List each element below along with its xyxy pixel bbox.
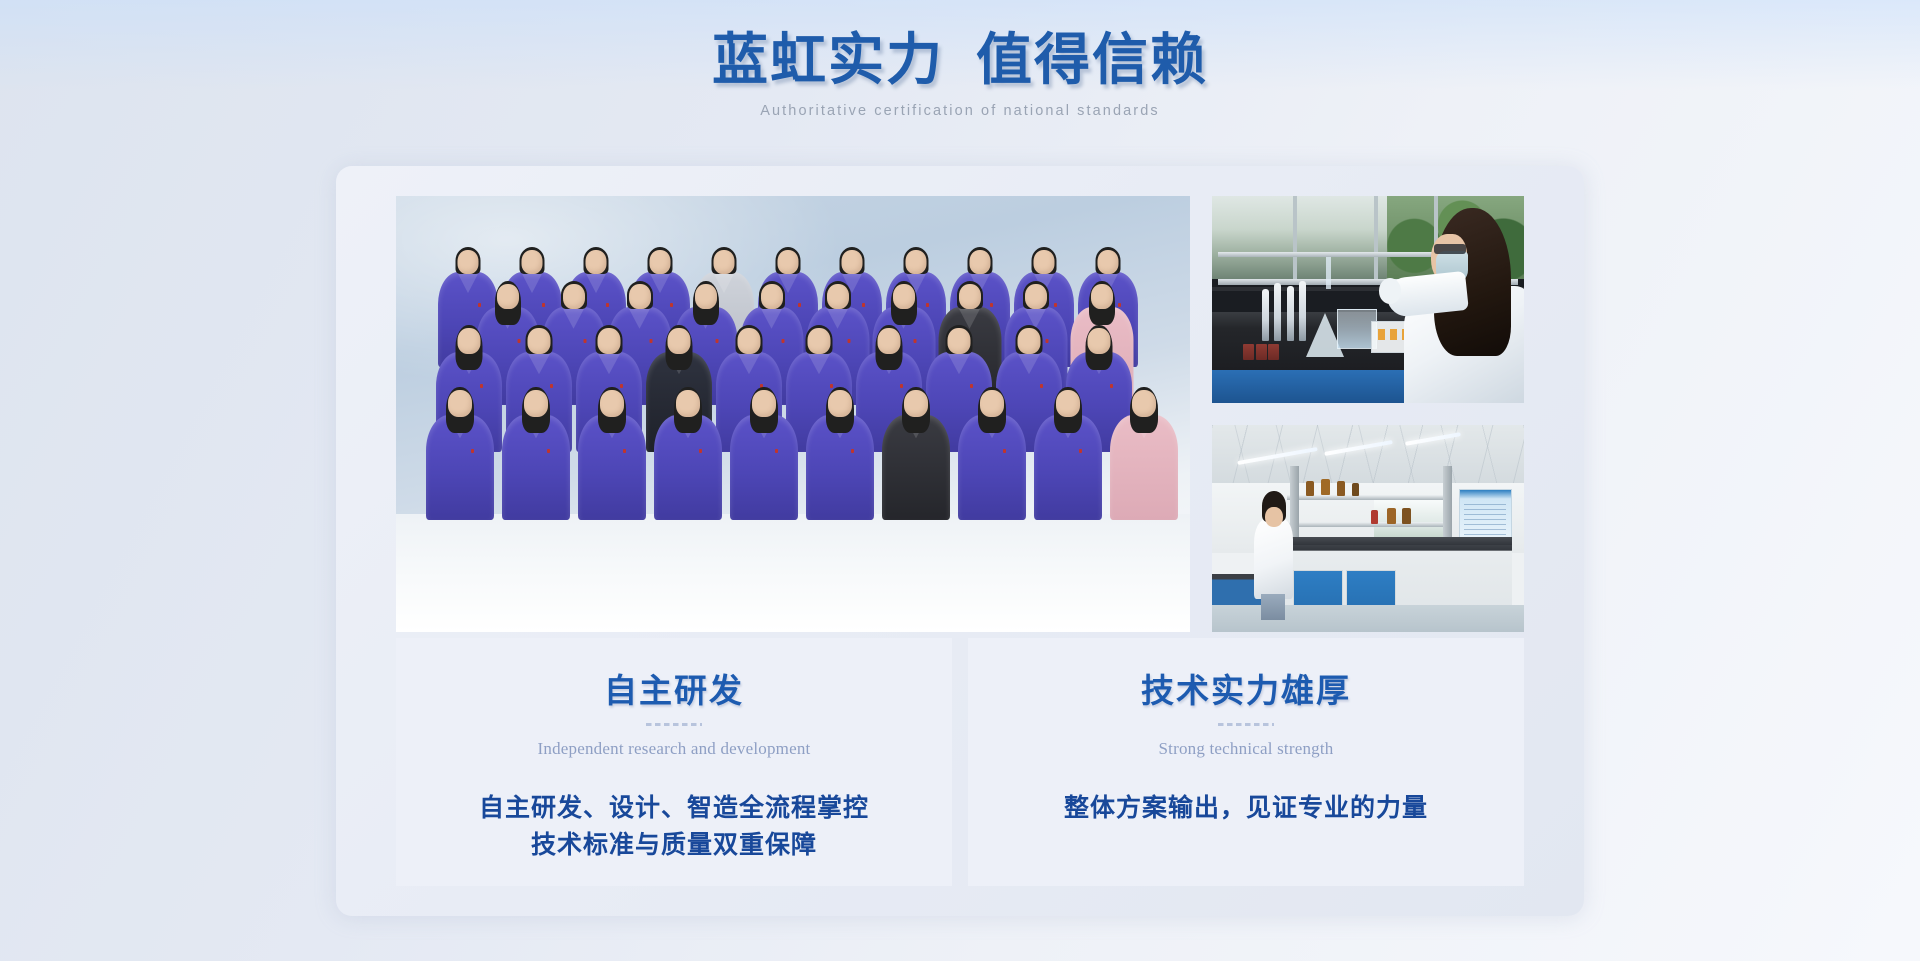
staff-member — [654, 387, 722, 526]
uniform-badge — [851, 449, 854, 453]
uniform-badge — [1003, 449, 1006, 453]
uniform-badge — [471, 449, 474, 453]
staff-member — [426, 387, 494, 526]
uniform-collar — [597, 352, 621, 374]
card-body: 自主研发、设计、智造全流程掌控 技术标准与质量双重保障 — [426, 790, 922, 864]
feature-card-technical-strength[interactable]: 技术实力雄厚 Strong technical strength 整体方案输出，… — [968, 638, 1524, 886]
ceiling — [1212, 425, 1524, 487]
card-body: 整体方案输出，见证专业的力量 — [998, 790, 1494, 827]
page-header: 蓝虹实力 值得信赖 Authoritative certification of… — [0, 0, 1920, 119]
staff-member — [806, 387, 874, 526]
staff-face — [458, 328, 481, 354]
staff-face — [1132, 390, 1156, 417]
pipette-icon — [1262, 289, 1269, 341]
staff-face — [497, 284, 519, 309]
staff-face — [1098, 250, 1119, 274]
staff-face — [1088, 328, 1111, 354]
staff-face — [1034, 250, 1055, 274]
staff-face — [959, 284, 981, 309]
feature-card-independent-rd[interactable]: 自主研发 Independent research and developmen… — [396, 638, 952, 886]
pipette-icon — [1274, 283, 1281, 341]
staff-face — [778, 250, 799, 274]
laboratory-room-photo[interactable] — [1212, 425, 1524, 632]
card-title: 技术实力雄厚 — [998, 664, 1494, 712]
reagent-bottle — [1306, 481, 1314, 496]
staff-face — [1265, 507, 1283, 528]
staff-face — [738, 328, 761, 354]
card-title: 自主研发 — [426, 664, 922, 712]
staff-face — [524, 390, 548, 417]
reagent-vial — [1243, 344, 1254, 360]
uniform-badge — [547, 449, 550, 453]
pipette-icon — [1287, 286, 1294, 341]
staff-face — [1018, 328, 1041, 354]
lab-coat — [1254, 519, 1293, 599]
staff-member — [502, 387, 570, 526]
glove-icon — [1379, 278, 1401, 303]
reagent-vial — [1268, 344, 1279, 360]
window-mullion — [1293, 196, 1297, 279]
staff-face — [761, 284, 783, 309]
window-mullion — [1374, 196, 1378, 279]
staff-jeans — [1261, 594, 1285, 620]
staff-face — [752, 390, 776, 417]
staff-member — [958, 387, 1026, 526]
card-divider — [646, 723, 702, 726]
reagent-bottle — [1402, 508, 1411, 524]
page-title: 蓝虹实力 值得信赖 — [0, 31, 1920, 91]
uniform-badge — [623, 449, 626, 453]
staff-face — [676, 390, 700, 417]
staff-member — [1034, 387, 1102, 526]
card-subtitle: Strong technical strength — [998, 739, 1494, 759]
staff-member — [882, 387, 950, 526]
staff-face — [458, 250, 479, 274]
sample-tube — [1378, 329, 1385, 340]
reagent-shelf — [1287, 495, 1449, 500]
staff-face — [1025, 284, 1047, 309]
staff-crowd — [396, 257, 1190, 562]
laboratory-room-canvas — [1212, 425, 1524, 632]
staff-face — [893, 284, 915, 309]
group-photo-canvas — [396, 196, 1190, 632]
uniform-collar — [807, 352, 831, 374]
card-subtitle: Independent research and development — [426, 739, 922, 759]
staff-face — [1056, 390, 1080, 417]
staff-member — [578, 387, 646, 526]
flask-neck — [1326, 257, 1331, 289]
staff-face — [629, 284, 651, 309]
staff-face — [827, 284, 849, 309]
reagent-shelf — [1287, 522, 1449, 527]
uniform-collar — [527, 352, 551, 374]
staff-face — [1091, 284, 1113, 309]
uniform-collar — [737, 352, 761, 374]
staff-face — [600, 390, 624, 417]
staff-face — [948, 328, 971, 354]
safety-glasses-icon — [1434, 244, 1466, 254]
reagent-bottle — [1321, 479, 1330, 495]
staff-face — [528, 328, 551, 354]
card-divider — [1218, 723, 1274, 726]
media-grid — [396, 196, 1524, 632]
uniform-badge — [1079, 449, 1082, 453]
staff-face — [695, 284, 717, 309]
technician-figure — [1393, 208, 1524, 403]
staff-face — [714, 250, 735, 274]
team-group-photo[interactable] — [396, 196, 1190, 632]
reagent-bottle — [1371, 510, 1378, 524]
content-panel: 自主研发 Independent research and developmen… — [336, 166, 1584, 916]
staff-face — [980, 390, 1004, 417]
uniform-collar — [947, 352, 971, 374]
staff-face — [563, 284, 585, 309]
uniform-badge — [775, 449, 778, 453]
staff-face — [598, 328, 621, 354]
safety-poster — [1459, 489, 1512, 543]
page-subtitle: Authoritative certification of national … — [0, 103, 1920, 119]
lab-technician-canvas — [1212, 196, 1524, 403]
reagent-bottle — [1352, 483, 1359, 496]
staff-face — [808, 328, 831, 354]
uniform-badge — [699, 449, 702, 453]
staff-face — [522, 250, 543, 274]
staff-member — [730, 387, 798, 526]
uniform-collar — [1017, 352, 1041, 374]
staff-face — [828, 390, 852, 417]
reagent-vial — [1256, 344, 1267, 360]
staff-face — [904, 390, 928, 417]
staff-face — [878, 328, 901, 354]
staff-face — [586, 250, 607, 274]
uniform-badge — [782, 339, 785, 343]
side-photo-column — [1212, 196, 1524, 632]
feature-cards: 自主研发 Independent research and developmen… — [396, 638, 1524, 886]
staff-face — [650, 250, 671, 274]
staff-face — [970, 250, 991, 274]
reagent-bottle — [1337, 481, 1345, 496]
reagent-bottle — [1387, 508, 1396, 524]
staff-face — [668, 328, 691, 354]
lab-staff-figure — [1249, 491, 1296, 619]
staff-member — [1110, 387, 1178, 526]
lab-technician-photo[interactable] — [1212, 196, 1524, 403]
staff-face — [842, 250, 863, 274]
staff-face — [448, 390, 472, 417]
staff-face — [906, 250, 927, 274]
